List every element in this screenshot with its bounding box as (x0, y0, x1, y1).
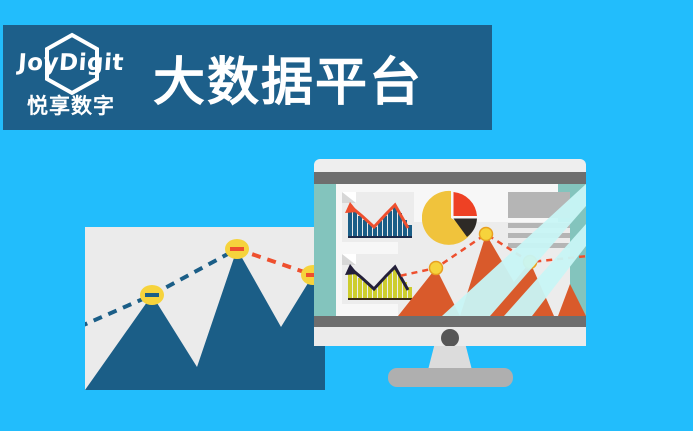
left-area-chart-panel (85, 227, 325, 390)
logo-wordmark: JoyDigit (10, 50, 132, 76)
area-chart-orange (398, 222, 586, 316)
header-banner: JoyDigit 悦享数字 大数据平台 (3, 25, 492, 130)
placeholder-block (508, 192, 570, 218)
area-chart-orange-svg (398, 222, 586, 316)
illustration-canvas: JoyDigit 悦享数字 大数据平台 (0, 0, 693, 431)
monitor-screen (314, 184, 586, 316)
brand-logo: JoyDigit 悦享数字 (11, 28, 131, 128)
power-indicator-icon (441, 329, 459, 347)
logo-subtitle: 悦享数字 (11, 90, 131, 120)
left-area-chart-svg (85, 227, 325, 390)
monitor-top-bar (314, 172, 586, 184)
monitor-bottom-bar (314, 316, 586, 327)
monitor-stand-neck (428, 346, 472, 370)
page-title: 大数据平台 (153, 40, 423, 115)
data-marker (480, 228, 493, 241)
monitor-frame (314, 159, 586, 346)
mountain-shape-orange (398, 234, 586, 316)
screen-left-panel (314, 184, 336, 316)
monitor-stand-base (388, 368, 513, 387)
data-marker (524, 256, 537, 269)
pie-slice-b (454, 192, 478, 216)
mountain-shape-left (85, 249, 325, 390)
data-marker (430, 262, 443, 275)
